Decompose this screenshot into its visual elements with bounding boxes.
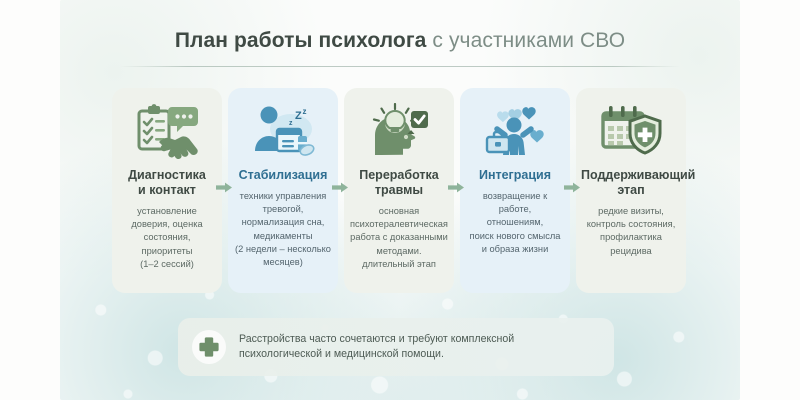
stage-title-line: этап (617, 183, 644, 197)
medical-cross-icon (192, 330, 226, 364)
calendar-shield-icon (580, 100, 682, 162)
stage-connector-arrow-4 (564, 182, 580, 193)
footer-note-text: Расстройства часто сочетаются и требуют … (239, 332, 514, 363)
desc-line: психотералевтическая (350, 219, 448, 229)
desc-line: (1–2 сессий) (140, 259, 194, 269)
desc-line: и образа жизни (482, 244, 549, 254)
desc-line: профилактика (600, 232, 662, 242)
desc-line: медикаменты (253, 231, 312, 241)
desc-line: нормализация сна, (242, 217, 325, 227)
desc-line: возвращение к работе, (483, 191, 547, 214)
svg-text:z: z (303, 107, 307, 116)
svg-text:z: z (289, 120, 293, 127)
stage-card-title: Стабилизация (232, 168, 334, 183)
stage-title-line: травмы (375, 183, 423, 197)
page-title: План работы психолога с участниками СВО (0, 28, 800, 54)
stage-card-description: техники управления тревогой, нормализаци… (232, 190, 334, 269)
stage-card-description: установление доверия, оценка состояния, … (116, 205, 218, 271)
desc-line: техники управления (240, 191, 327, 201)
stage-title-line: Стабилизация (239, 168, 328, 182)
desc-line: отношениям, (487, 217, 544, 227)
stage-connector-arrow-1 (216, 182, 232, 193)
head-lightbulb-check-icon (348, 100, 450, 162)
desc-line: месяцев) (263, 257, 303, 267)
desc-line: рецидива (610, 246, 651, 256)
stage-card-description: основная психотералевтическая работа с д… (348, 205, 450, 271)
desc-line: тревогой, (263, 204, 304, 214)
stage-card-maintenance[interactable]: Поддерживающий этап редкие визиты, контр… (576, 88, 686, 293)
stage-card-title: Поддерживающий этап (580, 168, 682, 198)
title-divider (120, 66, 680, 67)
desc-line: длительный этап (362, 259, 436, 269)
stage-title-line: Поддерживающий (581, 168, 695, 182)
footer-note-banner: Расстройства часто сочетаются и требуют … (178, 318, 614, 376)
stage-connector-arrow-3 (448, 182, 464, 193)
stage-cards-row: Диагностика и контакт установление довер… (112, 88, 690, 293)
stage-title-line: Интеграция (479, 168, 551, 182)
stage-connector-arrow-2 (332, 182, 348, 193)
desc-line: методами. (376, 246, 421, 256)
clipboard-handshake-icon (116, 100, 218, 162)
stage-title-line: и контакт (138, 183, 196, 197)
svg-text:Z: Z (295, 110, 302, 122)
note-line: психологической и медицинской помощи. (239, 347, 514, 363)
desc-line: доверия, оценка (131, 219, 202, 229)
desc-line: работа с доказанными (350, 232, 448, 242)
note-line: Расстройства часто сочетаются и требуют … (239, 332, 514, 348)
desc-line: установление (137, 206, 197, 216)
stage-card-diagnostics[interactable]: Диагностика и контакт установление довер… (112, 88, 222, 293)
page-title-strong: План работы психолога (175, 29, 427, 52)
stage-card-description: редкие визиты, контроль состояния, профи… (580, 205, 682, 258)
stage-card-description: возвращение к работе, отношениям, поиск … (464, 190, 566, 256)
desc-line: поиск нового смысла (470, 231, 561, 241)
stage-card-title: Диагностика и контакт (116, 168, 218, 198)
stage-card-trauma-processing[interactable]: Переработка травмы основная психотералев… (344, 88, 454, 293)
person-sleep-medication-icon: Z z z (232, 100, 334, 162)
desc-line: основная (379, 206, 419, 216)
page-title-light: с участниками СВО (432, 29, 625, 52)
stage-title-line: Переработка (359, 168, 439, 182)
desc-line: редкие визиты, (598, 206, 664, 216)
desc-line: контроль состояния, (587, 219, 676, 229)
stage-card-stabilization[interactable]: Z z z Стабилизация техники управления тр… (228, 88, 338, 293)
desc-line: состояния, приоритеты (142, 232, 193, 255)
poster-header: План работы психолога с участниками СВО (0, 28, 800, 67)
stage-card-title: Переработка травмы (348, 168, 450, 198)
person-hearts-briefcase-icon (464, 100, 566, 162)
stage-card-integration[interactable]: Интеграция возвращение к работе, отношен… (460, 88, 570, 293)
stage-card-title: Интеграция (464, 168, 566, 183)
stage-title-line: Диагностика (128, 168, 206, 182)
desc-line: (2 недели – несколько (235, 244, 331, 254)
infographic-poster: План работы психолога с участниками СВО (0, 0, 800, 400)
